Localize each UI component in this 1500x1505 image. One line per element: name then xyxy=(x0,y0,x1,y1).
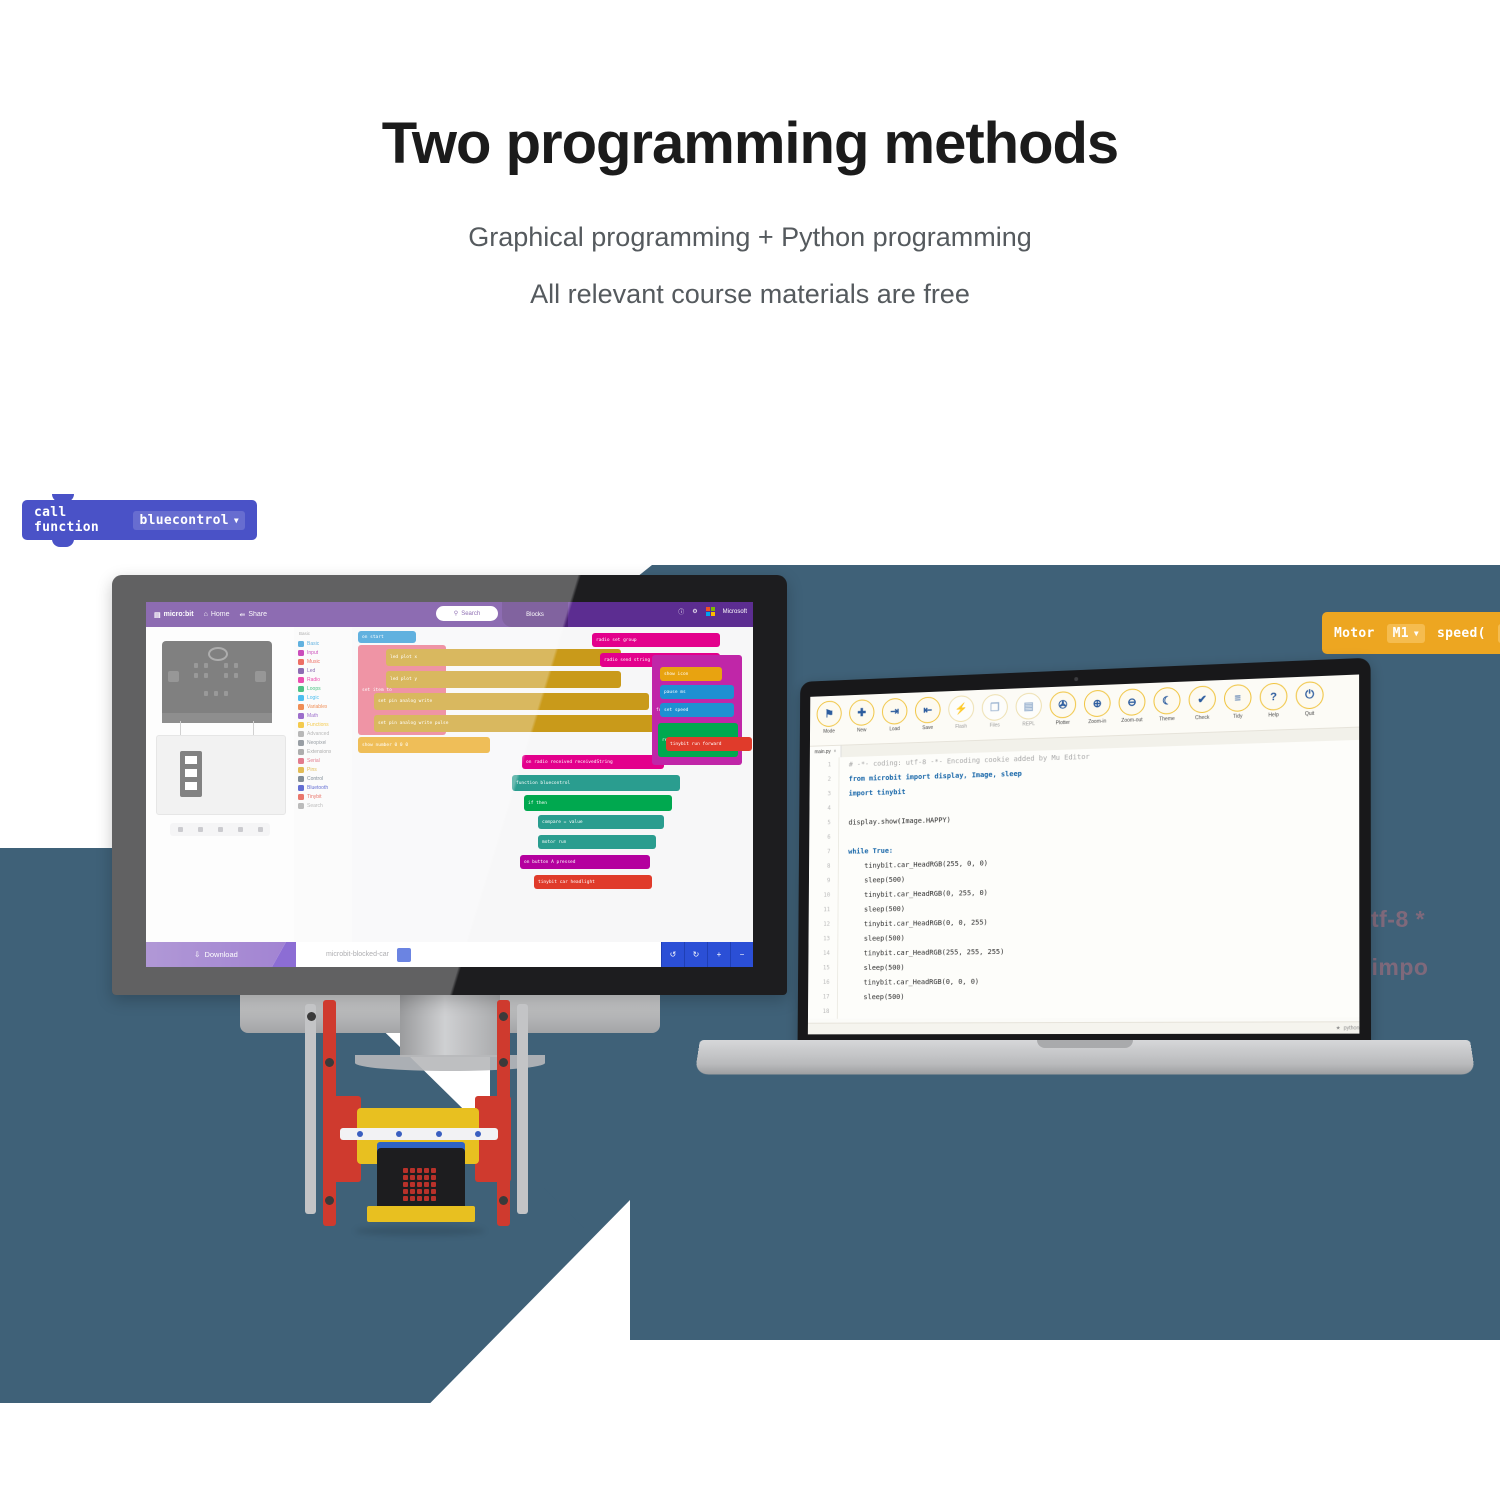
robot-joint xyxy=(325,1196,334,1205)
category-color-swatch xyxy=(298,731,304,737)
code-line-text: sleep(500) xyxy=(838,931,905,946)
workspace-block[interactable]: tinybit car headlight xyxy=(534,875,652,889)
robot-joint xyxy=(499,1196,508,1205)
category-color-swatch xyxy=(298,650,304,656)
line-number: 2 xyxy=(810,772,840,787)
makecode-home-button[interactable]: ⌂ Home xyxy=(204,611,230,618)
category-color-swatch xyxy=(298,704,304,710)
makecode-screen: ▤ micro:bit ⌂ Home ⇚ Share ⚲ Search Bloc… xyxy=(146,602,753,967)
workspace-block-label: set pin analog write xyxy=(378,699,432,704)
category-label: Serial xyxy=(307,758,320,764)
mu-tool-label: Files xyxy=(990,722,1000,728)
line-number: 10 xyxy=(809,888,839,903)
category-item-radio[interactable]: Radio xyxy=(294,675,352,684)
category-item-serial[interactable]: Serial xyxy=(294,756,352,765)
mu-tool-label: New xyxy=(857,727,866,733)
code-line-text: tinybit.car_HeadRGB(0, 0, 255) xyxy=(838,915,987,932)
workspace-block-label: function bluecontrol xyxy=(516,781,570,786)
new-file-icon: ✚ xyxy=(849,699,874,726)
category-label: Logic xyxy=(307,695,319,701)
workspace-block-label: if then xyxy=(528,801,547,806)
category-label: Control xyxy=(307,776,323,782)
workspace-block[interactable]: on button A pressed xyxy=(520,855,650,869)
microbit-logo-icon: ▤ xyxy=(154,611,161,619)
category-item-loops[interactable]: Loops xyxy=(294,684,352,693)
microbit-board xyxy=(162,641,272,719)
gear-icon[interactable]: ⚙ xyxy=(692,608,697,615)
line-number: 18 xyxy=(808,1004,838,1019)
makecode-logo-label: micro:bit xyxy=(164,611,194,618)
mu-tool-flash[interactable]: ⚡Flash xyxy=(944,695,978,730)
mu-tool-label: Zoom-in xyxy=(1088,719,1106,726)
category-color-swatch xyxy=(298,803,304,809)
mu-tool-label: Zoom-out xyxy=(1121,717,1142,724)
workspace-block[interactable]: radio set group xyxy=(592,633,720,647)
workspace-block-label: on button A pressed xyxy=(524,860,575,865)
line-number: 3 xyxy=(810,786,840,801)
block-call-function[interactable]: call function bluecontrol ▼ xyxy=(22,500,257,540)
microbit-robot-kit xyxy=(285,1000,550,1255)
sim-restart-icon[interactable] xyxy=(198,827,203,832)
line-number: 14 xyxy=(808,946,838,961)
category-color-swatch xyxy=(298,677,304,683)
workspace-block[interactable]: function bluecontrol xyxy=(512,775,680,791)
mu-editor-screen: ⚑Mode✚New⇥Load⇤Save⚡Flash❐Files▤REPL✇Plo… xyxy=(808,674,1360,1034)
microsoft-logo-icon xyxy=(706,607,715,616)
workspace-block-label: radio set group xyxy=(596,638,637,643)
microbit-button-b[interactable] xyxy=(255,671,266,682)
home-icon: ⌂ xyxy=(204,611,208,618)
line-number: 6 xyxy=(809,830,839,845)
makecode-logo[interactable]: ▤ micro:bit xyxy=(154,611,194,619)
category-label: Radio xyxy=(307,677,320,683)
category-item-functions[interactable]: Functions xyxy=(294,720,352,729)
line-number: 13 xyxy=(808,931,838,946)
chevron-down-icon: ▼ xyxy=(1414,629,1419,638)
laptop: ⚑Mode✚New⇥Load⇤Save⚡Flash❐Files▤REPL✇Plo… xyxy=(700,668,1470,1098)
category-item-advanced[interactable]: Advanced xyxy=(294,729,352,738)
project-name-field[interactable]: microbit-blocked-car xyxy=(326,951,389,958)
workspace-block[interactable]: led plot x xyxy=(386,649,621,666)
sim-fullscreen-icon[interactable] xyxy=(258,827,263,832)
mu-code-area[interactable]: 1# -*- coding: utf-8 -*- Encoding cookie… xyxy=(808,740,1359,1019)
workspace-block-label: on radio received receivedString xyxy=(526,760,613,765)
mu-tool-repl[interactable]: ▤REPL xyxy=(1012,692,1046,728)
workspace-block[interactable]: led plot y xyxy=(386,671,621,688)
page-title: Two programming methods xyxy=(0,112,1500,176)
code-line-text: sleep(500) xyxy=(838,960,905,975)
workspace-block-label: compare = value xyxy=(542,820,583,825)
mu-tool-zoom-out[interactable]: ⊖Zoom-out xyxy=(1115,688,1150,724)
robot-joint xyxy=(499,1058,508,1067)
subtitle-line-1: Graphical programming + Python programmi… xyxy=(0,222,1500,253)
category-item-bluetooth[interactable]: Bluetooth xyxy=(294,783,352,792)
mu-tool-label: REPL xyxy=(1022,721,1035,727)
mu-tool-help[interactable]: ?Help xyxy=(1256,682,1292,719)
header: Two programming methods Graphical progra… xyxy=(0,0,1500,310)
code-line-text: sleep(500) xyxy=(838,989,905,1004)
workspace-block-label: show icon xyxy=(664,672,688,677)
category-label: Loops xyxy=(307,686,321,692)
block-motor[interactable]: Motor M1 ▼ speed( -255 xyxy=(1322,612,1500,654)
line-number: 17 xyxy=(808,990,838,1005)
workspace-block[interactable]: if then xyxy=(524,795,672,811)
mode-icon: ⚑ xyxy=(817,700,842,727)
mu-tool-label: Load xyxy=(889,726,900,732)
category-label: Led xyxy=(307,668,315,674)
category-label: Bluetooth xyxy=(307,785,328,791)
download-label: Download xyxy=(204,950,237,959)
sim-slow-icon[interactable] xyxy=(238,827,243,832)
mu-tool-theme[interactable]: ☾Theme xyxy=(1149,687,1184,723)
mu-tool-label: Help xyxy=(1268,712,1279,718)
mu-tool-quit[interactable]: ⏻Quit xyxy=(1292,681,1328,718)
code-line: 18 xyxy=(808,1002,1359,1019)
category-color-swatch xyxy=(298,695,304,701)
category-item-music[interactable]: Music xyxy=(294,657,352,666)
search-icon: ⚲ xyxy=(454,610,458,617)
laptop-notch xyxy=(1037,1040,1133,1048)
simulator-controls[interactable] xyxy=(170,823,270,836)
check-icon: ✔ xyxy=(1189,685,1216,713)
category-color-swatch xyxy=(298,749,304,755)
robot-led-matrix xyxy=(403,1168,436,1201)
workspace-block-label: on start xyxy=(362,635,384,640)
workspace-block-label: set pin analog write pulse xyxy=(378,721,448,726)
tidy-icon: ≡ xyxy=(1224,684,1252,712)
category-color-swatch xyxy=(298,686,304,692)
makecode-share-label: Share xyxy=(248,611,267,618)
category-item-input[interactable]: Input xyxy=(294,648,352,657)
webcam-icon xyxy=(1074,677,1078,681)
category-item-extensions[interactable]: Extensions xyxy=(294,747,352,756)
category-color-swatch xyxy=(298,740,304,746)
plotter-icon: ✇ xyxy=(1050,691,1077,719)
tab-blocks[interactable]: Blocks xyxy=(502,602,568,627)
category-color-swatch xyxy=(298,767,304,773)
block-motor-label: Motor xyxy=(1334,626,1375,641)
workspace-block[interactable]: compare = value xyxy=(538,815,664,829)
desktop-monitor: ▤ micro:bit ⌂ Home ⇚ Share ⚲ Search Bloc… xyxy=(112,575,787,995)
mu-tool-label: Quit xyxy=(1305,711,1315,717)
chevron-down-icon: ▼ xyxy=(234,516,239,525)
mu-tool-load[interactable]: ⇥Load xyxy=(878,698,911,733)
category-color-swatch xyxy=(298,668,304,674)
mu-tool-label: Theme xyxy=(1159,716,1175,723)
save-button[interactable] xyxy=(397,948,411,962)
mu-tool-label: Save xyxy=(922,725,933,731)
repl-icon: ▤ xyxy=(1016,692,1042,720)
workspace-block[interactable]: set pin analog write xyxy=(374,693,649,710)
category-item-math[interactable]: Math xyxy=(294,711,352,720)
download-button[interactable]: ⇩ Download xyxy=(146,942,286,967)
code-line-text: tinybit.car_HeadRGB(0, 255, 0) xyxy=(839,885,988,902)
workspace-block-label: pause ms xyxy=(664,690,686,695)
makecode-bottombar: ⇩ Download microbit-blocked-car ↺ ↻ + − xyxy=(146,942,753,967)
category-label: Pins xyxy=(307,767,317,773)
mu-tool-label: Check xyxy=(1195,715,1209,722)
mu-status-label: python xyxy=(1344,1025,1360,1031)
code-line-text: while True: xyxy=(839,843,893,859)
mu-tool-save[interactable]: ⇤Save xyxy=(911,696,944,731)
mu-tool-label: Tidy xyxy=(1233,714,1242,720)
category-label: Extensions xyxy=(307,749,331,755)
category-color-swatch xyxy=(298,659,304,665)
code-line-text: import tinybit xyxy=(839,784,905,800)
workspace-block-label: led plot y xyxy=(390,677,417,682)
makecode-home-label: Home xyxy=(211,611,230,618)
makecode-search-box[interactable]: ⚲ Search xyxy=(436,606,498,621)
zoom-out-icon: ⊖ xyxy=(1119,688,1146,716)
category-item-tinybit[interactable]: Tinybit xyxy=(294,792,352,801)
workspace-block-label: tinybit car headlight xyxy=(538,880,595,885)
category-color-swatch xyxy=(298,776,304,782)
code-line-text: display.show(Image.HAPPY) xyxy=(839,812,951,829)
category-color-swatch xyxy=(298,758,304,764)
makecode-search-placeholder: Search xyxy=(461,611,480,617)
block-motor-port-dropdown[interactable]: M1 ▼ xyxy=(1387,624,1425,643)
workspace-block[interactable]: on radio received receivedString xyxy=(522,755,664,769)
laptop-lid: ⚑Mode✚New⇥Load⇤Save⚡Flash❐Files▤REPL✇Plo… xyxy=(798,658,1371,1046)
workspace-block-label: motor run xyxy=(542,840,566,845)
mu-tool-tidy[interactable]: ≡Tidy xyxy=(1220,684,1256,721)
sim-play-icon[interactable] xyxy=(178,827,183,832)
code-line-text: tinybit.car_HeadRGB(255, 255, 255) xyxy=(838,944,1004,960)
makecode-body: Basic BasicInputMusicLedRadioLoopsLogicV… xyxy=(146,627,753,967)
mu-tool-new[interactable]: ✚New xyxy=(845,699,878,734)
line-number: 1 xyxy=(810,757,840,772)
category-item-led[interactable]: Led xyxy=(294,666,352,675)
microbit-simulator xyxy=(146,627,294,942)
python-icon: ★ xyxy=(1336,1025,1341,1031)
category-label: Tinybit xyxy=(307,794,322,800)
workspace-block-label: show number 0 0 0 xyxy=(362,743,408,748)
code-line-text: tinybit.car_HeadRGB(255, 0, 0) xyxy=(839,855,988,873)
mu-tool-files[interactable]: ❐Files xyxy=(978,694,1012,730)
save-icon: ⇤ xyxy=(915,696,941,723)
category-item-basic[interactable]: Basic xyxy=(294,639,352,648)
line-number: 4 xyxy=(809,801,839,816)
zoom-in-icon: ⊕ xyxy=(1084,690,1111,718)
makecode-topbar-right: ⓘ ⚙ Microsoft xyxy=(678,607,747,616)
category-item-neopixel[interactable]: Neopixel xyxy=(294,738,352,747)
mu-tool-zoom-in[interactable]: ⊕Zoom-in xyxy=(1080,689,1115,725)
category-label: Variables xyxy=(307,704,327,710)
block-motor-port: M1 xyxy=(1393,626,1409,641)
robot-joint xyxy=(307,1012,316,1021)
category-label: Search xyxy=(307,803,323,809)
share-icon: ⇚ xyxy=(240,611,246,619)
category-item-pins[interactable]: Pins xyxy=(294,765,352,774)
workspace-block[interactable]: motor run xyxy=(538,835,656,849)
line-number: 11 xyxy=(809,902,839,917)
workspace-block-label: led plot x xyxy=(390,655,417,660)
microbit-button-a[interactable] xyxy=(168,671,179,682)
category-color-swatch xyxy=(298,722,304,728)
category-label: Neopixel xyxy=(307,740,326,746)
code-line-text: sleep(500) xyxy=(838,901,905,917)
robot-leg-gray-left xyxy=(305,1004,316,1214)
mu-tool-label: Plotter xyxy=(1056,720,1070,726)
category-color-swatch xyxy=(298,713,304,719)
help-icon: ? xyxy=(1260,682,1288,710)
block-motor-speed-label: speed( xyxy=(1437,626,1486,641)
category-color-swatch xyxy=(298,794,304,800)
category-label: Basic xyxy=(307,641,319,647)
category-label: Music xyxy=(307,659,320,665)
line-number: 8 xyxy=(809,859,839,874)
mu-tool-label: Flash xyxy=(955,724,967,730)
theme-icon: ☾ xyxy=(1153,687,1180,715)
mu-tool-label: Mode xyxy=(823,729,835,735)
category-label: Advanced xyxy=(307,731,329,737)
makecode-category-list: Basic BasicInputMusicLedRadioLoopsLogicV… xyxy=(294,627,352,942)
mu-tool-check[interactable]: ✔Check xyxy=(1185,685,1220,721)
workspace-block-label: set item to xyxy=(362,688,392,693)
makecode-share-button[interactable]: ⇚ Share xyxy=(240,611,268,619)
workspace-block[interactable]: set pin analog write pulse xyxy=(374,715,664,732)
files-icon: ❐ xyxy=(982,694,1008,721)
robot-base-plate xyxy=(367,1206,475,1222)
sim-mute-icon[interactable] xyxy=(218,827,223,832)
category-label: Functions xyxy=(307,722,329,728)
robot-shadow xyxy=(355,1226,485,1236)
category-item-variables[interactable]: Variables xyxy=(294,702,352,711)
category-label: Input xyxy=(307,650,318,656)
download-icon: ⇩ xyxy=(194,950,200,959)
makecode-workspace[interactable]: on startset item toled plot xled plot ys… xyxy=(352,627,753,942)
line-number: 5 xyxy=(809,815,839,830)
tab-blocks-label: Blocks xyxy=(526,612,544,618)
subtitle-line-2: All relevant course materials are free xyxy=(0,279,1500,310)
help-icon[interactable]: ⓘ xyxy=(678,607,684,616)
workspace-block-label: set speed xyxy=(664,708,688,713)
simulator-module xyxy=(180,751,202,797)
category-color-swatch xyxy=(298,641,304,647)
tab-main-py-label: main.py xyxy=(814,749,830,755)
line-number: 15 xyxy=(808,960,838,975)
line-number: 7 xyxy=(809,844,839,859)
block-call-dropdown[interactable]: bluecontrol ▼ xyxy=(133,511,245,530)
mu-status-bar: ★ python xyxy=(808,1021,1360,1034)
simulator-accessory xyxy=(156,735,286,815)
load-icon: ⇥ xyxy=(882,698,908,725)
undo-button[interactable]: ↺ xyxy=(661,942,684,967)
robot-leg-gray-right xyxy=(517,1004,528,1214)
robot-sensor-bar xyxy=(340,1128,498,1140)
category-item-logic[interactable]: Logic xyxy=(294,693,352,702)
line-number: 12 xyxy=(809,917,839,932)
quit-icon: ⏻ xyxy=(1296,681,1324,710)
line-number: 16 xyxy=(808,975,838,990)
mu-tool-plotter[interactable]: ✇Plotter xyxy=(1046,691,1080,727)
line-number: 9 xyxy=(809,873,839,888)
close-icon[interactable]: × xyxy=(834,749,837,755)
block-call-value: bluecontrol xyxy=(139,513,228,528)
block-call-keyword: call function xyxy=(34,505,123,535)
category-item-control[interactable]: Control xyxy=(294,774,352,783)
category-heading: Basic xyxy=(294,631,352,639)
mu-tool-mode[interactable]: ⚑Mode xyxy=(813,700,846,735)
microbit-logo-icon xyxy=(208,647,228,661)
code-line-text: tinybit.car_HeadRGB(0, 0, 0) xyxy=(838,974,979,990)
flash-icon: ⚡ xyxy=(948,695,974,722)
category-color-swatch xyxy=(298,785,304,791)
workspace-block[interactable]: show number 0 0 0 xyxy=(358,737,490,753)
robot-joint xyxy=(499,1012,508,1021)
workspace-block[interactable]: on start xyxy=(358,631,416,643)
category-label: Math xyxy=(307,713,318,719)
robot-joint xyxy=(325,1058,334,1067)
microsoft-label: Microsoft xyxy=(723,609,747,615)
category-item-search[interactable]: Search xyxy=(294,801,352,810)
code-line-text: sleep(500) xyxy=(839,872,905,888)
